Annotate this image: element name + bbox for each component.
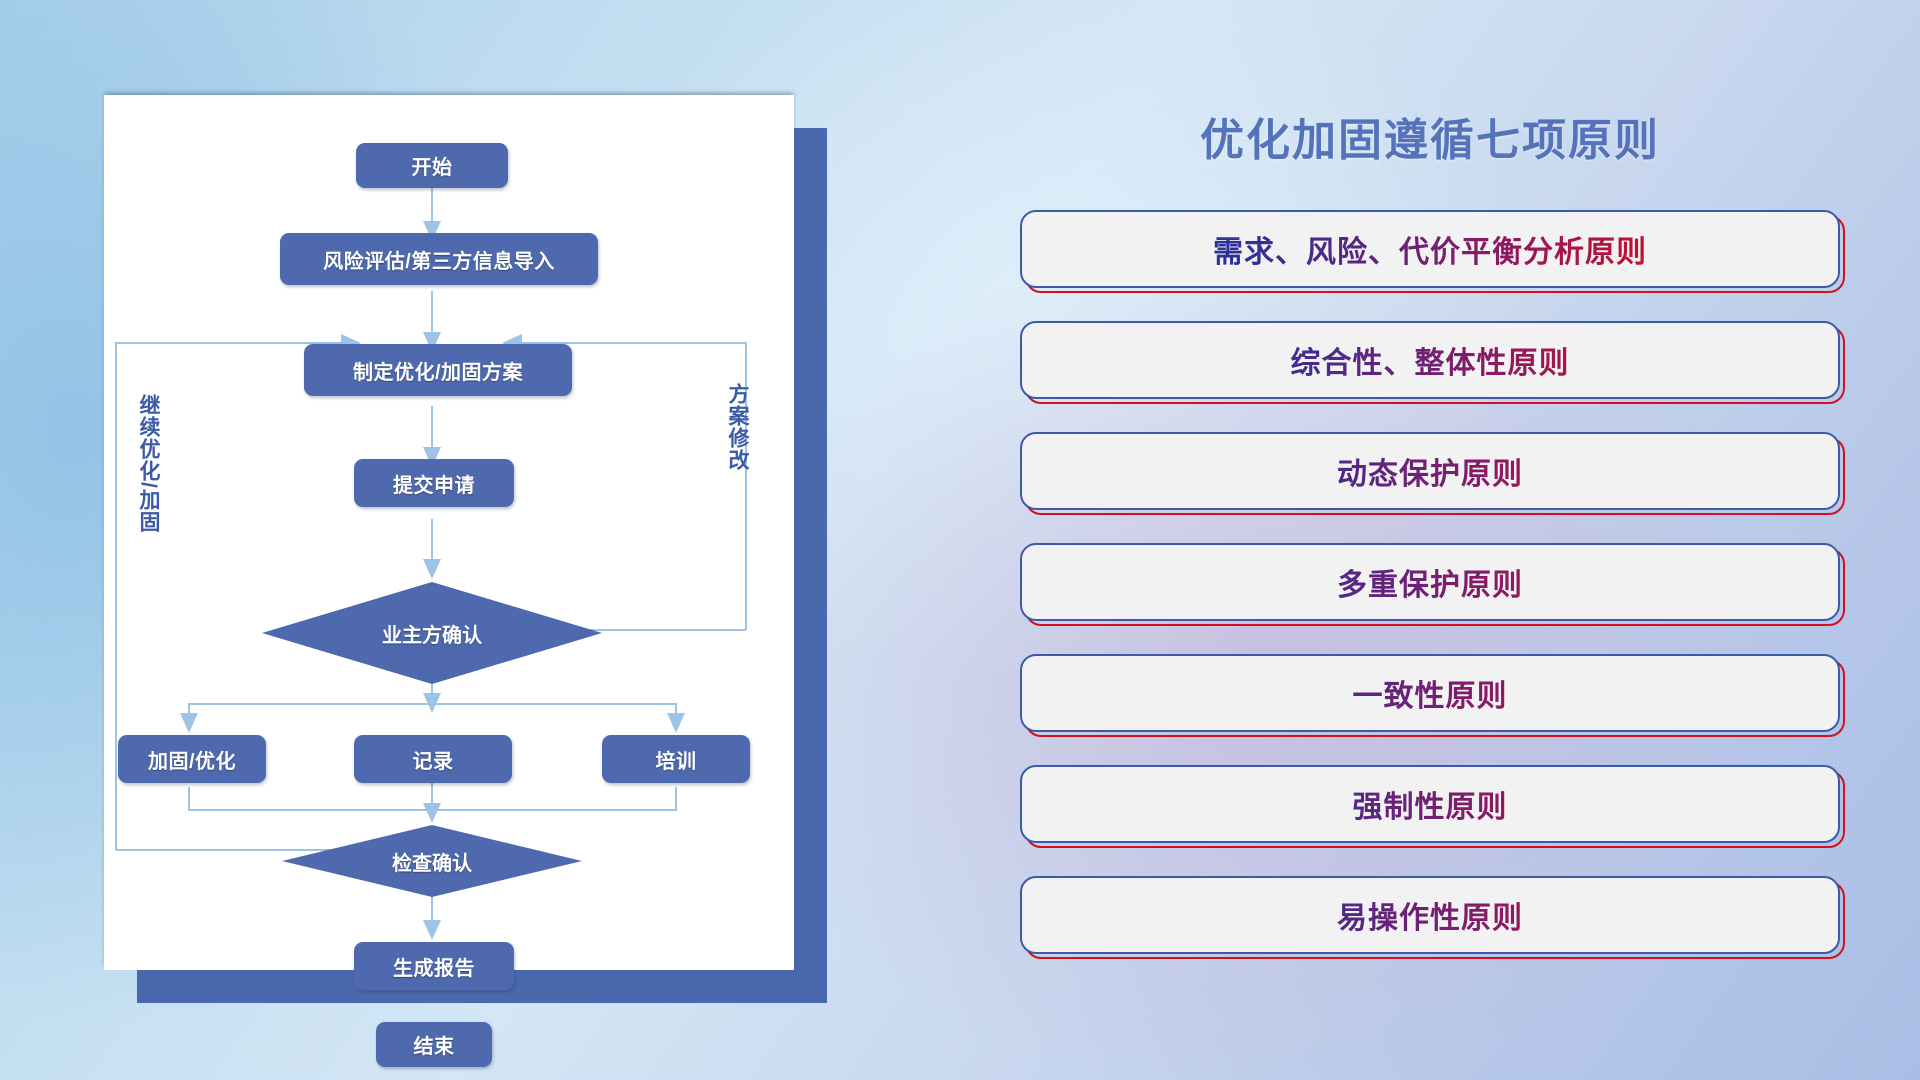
flowchart-panel: 开始 风险评估/第三方信息导入 制定优化/加固方案 提交申请 业主方确认 加固/… — [104, 95, 794, 970]
flow-node-record-label: 记录 — [413, 745, 454, 774]
flow-node-owner-confirm[interactable]: 业主方确认 — [262, 582, 602, 684]
flow-node-risk-assessment[interactable]: 风险评估/第三方信息导入 — [280, 233, 598, 285]
flow-node-generate-report-label: 生成报告 — [393, 952, 475, 981]
flow-node-end[interactable]: 结束 — [376, 1022, 492, 1067]
principle-card[interactable]: 多重保护原则 — [1020, 543, 1840, 621]
principle-card[interactable]: 易操作性原则 — [1020, 876, 1840, 954]
principle-label: 多重保护原则 — [1020, 543, 1840, 621]
principles-panel: 优化加固遵循七项原则 需求、风险、代价平衡分析原则 综合性、整体性原则 动态保护… — [1020, 90, 1840, 1020]
principle-label: 一致性原则 — [1020, 654, 1840, 732]
flow-node-end-label: 结束 — [414, 1030, 455, 1059]
flow-node-make-plan[interactable]: 制定优化/加固方案 — [304, 344, 572, 396]
principle-card[interactable]: 强制性原则 — [1020, 765, 1840, 843]
flow-node-owner-confirm-label: 业主方确认 — [262, 582, 602, 684]
flow-node-reinforce-optimize[interactable]: 加固/优化 — [118, 735, 266, 783]
flow-node-submit-application-label: 提交申请 — [393, 469, 475, 498]
principle-card[interactable]: 需求、风险、代价平衡分析原则 — [1020, 210, 1840, 288]
principle-card[interactable]: 综合性、整体性原则 — [1020, 321, 1840, 399]
flow-node-record[interactable]: 记录 — [354, 735, 512, 783]
principle-label: 需求、风险、代价平衡分析原则 — [1020, 210, 1840, 288]
principle-label: 强制性原则 — [1020, 765, 1840, 843]
principles-card-list: 需求、风险、代价平衡分析原则 综合性、整体性原则 动态保护原则 多重保护原则 一… — [1020, 210, 1840, 987]
principles-title: 优化加固遵循七项原则 — [1020, 104, 1840, 168]
flow-node-start-label: 开始 — [412, 151, 453, 180]
flow-node-inspection-confirm-label: 检查确认 — [282, 825, 582, 897]
flow-node-start[interactable]: 开始 — [356, 143, 508, 188]
flow-node-reinforce-optimize-label: 加固/优化 — [148, 745, 236, 774]
flow-node-inspection-confirm[interactable]: 检查确认 — [282, 825, 582, 897]
principle-card[interactable]: 一致性原则 — [1020, 654, 1840, 732]
flow-node-make-plan-label: 制定优化/加固方案 — [353, 356, 523, 385]
principle-card[interactable]: 动态保护原则 — [1020, 432, 1840, 510]
flow-node-generate-report[interactable]: 生成报告 — [354, 942, 514, 990]
principle-label: 易操作性原则 — [1020, 876, 1840, 954]
principle-label: 综合性、整体性原则 — [1020, 321, 1840, 399]
flow-node-training[interactable]: 培训 — [602, 735, 750, 783]
flow-node-submit-application[interactable]: 提交申请 — [354, 459, 514, 507]
flow-node-risk-assessment-label: 风险评估/第三方信息导入 — [323, 245, 555, 274]
flow-edge-label-left-loop: 继续优化/加固 — [137, 394, 159, 533]
flow-edge-label-right-loop: 方案修改 — [726, 383, 748, 471]
flow-node-training-label: 培训 — [656, 745, 697, 774]
principle-label: 动态保护原则 — [1020, 432, 1840, 510]
